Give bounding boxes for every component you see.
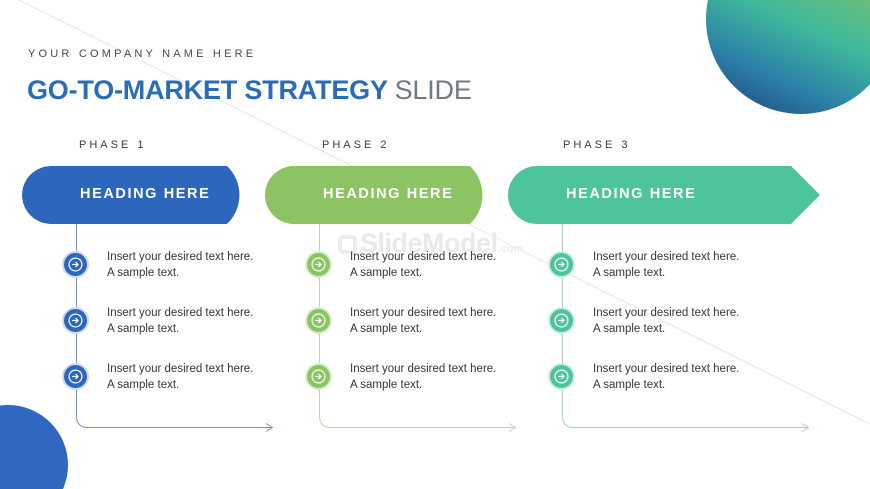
bullet-text-line1: Insert your desired text here. bbox=[107, 305, 253, 321]
bullet-text-line2: A sample text. bbox=[350, 321, 496, 337]
phase-heading-2-line1: HEADING bbox=[323, 186, 401, 202]
slide-canvas: YOUR COMPANY NAME HERE GO-TO-MARKET STRA… bbox=[0, 0, 870, 489]
bullet-text-line2: A sample text. bbox=[107, 377, 253, 393]
phase-banner-3[interactable]: HEADING HERE bbox=[508, 166, 820, 224]
bullet-text-2-1: Insert your desired text here. A sample … bbox=[350, 249, 496, 282]
bullet-text-line2: A sample text. bbox=[593, 321, 739, 337]
decorative-gradient-circle-top-right bbox=[706, 0, 870, 114]
phase-heading-1: HEADING HERE bbox=[80, 184, 210, 205]
bullet-text-line2: A sample text. bbox=[107, 265, 253, 281]
bullet-text-3-3: Insert your desired text here. A sample … bbox=[593, 361, 739, 394]
bullet-text-line1: Insert your desired text here. bbox=[350, 305, 496, 321]
bullet-text-line1: Insert your desired text here. bbox=[593, 305, 739, 321]
circle-arrow-right-icon bbox=[548, 363, 575, 390]
bullet-text-line1: Insert your desired text here. bbox=[593, 249, 739, 265]
bullet-text-line2: A sample text. bbox=[107, 321, 253, 337]
company-name-eyebrow: YOUR COMPANY NAME HERE bbox=[28, 48, 256, 60]
bullet-text-1-1: Insert your desired text here. A sample … bbox=[107, 249, 253, 282]
phase-heading-2: HEADING HERE bbox=[323, 184, 453, 205]
circle-arrow-right-icon bbox=[548, 251, 575, 278]
bullet-text-line2: A sample text. bbox=[593, 265, 739, 281]
circle-arrow-right-icon bbox=[548, 307, 575, 334]
bullet-text-line2: A sample text. bbox=[350, 377, 496, 393]
watermark-domain: .com bbox=[498, 243, 524, 255]
bullet-text-line1: Insert your desired text here. bbox=[593, 361, 739, 377]
phase-heading-3: HEADING HERE bbox=[566, 184, 696, 205]
flow-connector-3 bbox=[562, 400, 822, 432]
bullet-text-1-2: Insert your desired text here. A sample … bbox=[107, 305, 253, 338]
bullet-text-2-2: Insert your desired text here. A sample … bbox=[350, 305, 496, 338]
page-title-strong: GO-TO-MARKET STRATEGY bbox=[27, 75, 387, 105]
bullet-text-line1: Insert your desired text here. bbox=[350, 361, 496, 377]
phase-banner-2[interactable]: HEADING HERE bbox=[265, 166, 513, 224]
bullet-text-line2: A sample text. bbox=[593, 377, 739, 393]
page-title-light: SLIDE bbox=[395, 75, 472, 105]
phase-label-1: PHASE 1 bbox=[79, 139, 146, 151]
phase-banner-1[interactable]: HEADING HERE bbox=[22, 166, 270, 224]
bullet-text-line2: A sample text. bbox=[350, 265, 496, 281]
flow-connector-2 bbox=[319, 400, 529, 432]
bullet-text-2-3: Insert your desired text here. A sample … bbox=[350, 361, 496, 394]
page-title: GO-TO-MARKET STRATEGY SLIDE bbox=[27, 75, 472, 106]
circle-arrow-right-icon bbox=[62, 307, 89, 334]
circle-arrow-right-icon bbox=[62, 251, 89, 278]
bullet-text-line1: Insert your desired text here. bbox=[107, 361, 253, 377]
circle-arrow-right-icon bbox=[305, 307, 332, 334]
phase-label-2: PHASE 2 bbox=[322, 139, 389, 151]
phase-heading-3-line2: HERE bbox=[650, 186, 697, 202]
bullet-text-3-2: Insert your desired text here. A sample … bbox=[593, 305, 739, 338]
phase-heading-1-line2: HERE bbox=[164, 186, 211, 202]
bullet-text-3-1: Insert your desired text here. A sample … bbox=[593, 249, 739, 282]
circle-arrow-right-icon bbox=[305, 363, 332, 390]
circle-arrow-right-icon bbox=[305, 251, 332, 278]
phase-heading-3-line1: HEADING bbox=[566, 186, 644, 202]
circle-arrow-right-icon bbox=[62, 363, 89, 390]
flow-connector-1 bbox=[76, 400, 286, 432]
bullet-text-line1: Insert your desired text here. bbox=[107, 249, 253, 265]
phase-label-3: PHASE 3 bbox=[563, 139, 630, 151]
phase-heading-1-line1: HEADING bbox=[80, 186, 158, 202]
bullet-text-line1: Insert your desired text here. bbox=[350, 249, 496, 265]
phase-heading-2-line2: HERE bbox=[407, 186, 454, 202]
decorative-blue-circle-bottom-left bbox=[0, 405, 68, 489]
bullet-text-1-3: Insert your desired text here. A sample … bbox=[107, 361, 253, 394]
